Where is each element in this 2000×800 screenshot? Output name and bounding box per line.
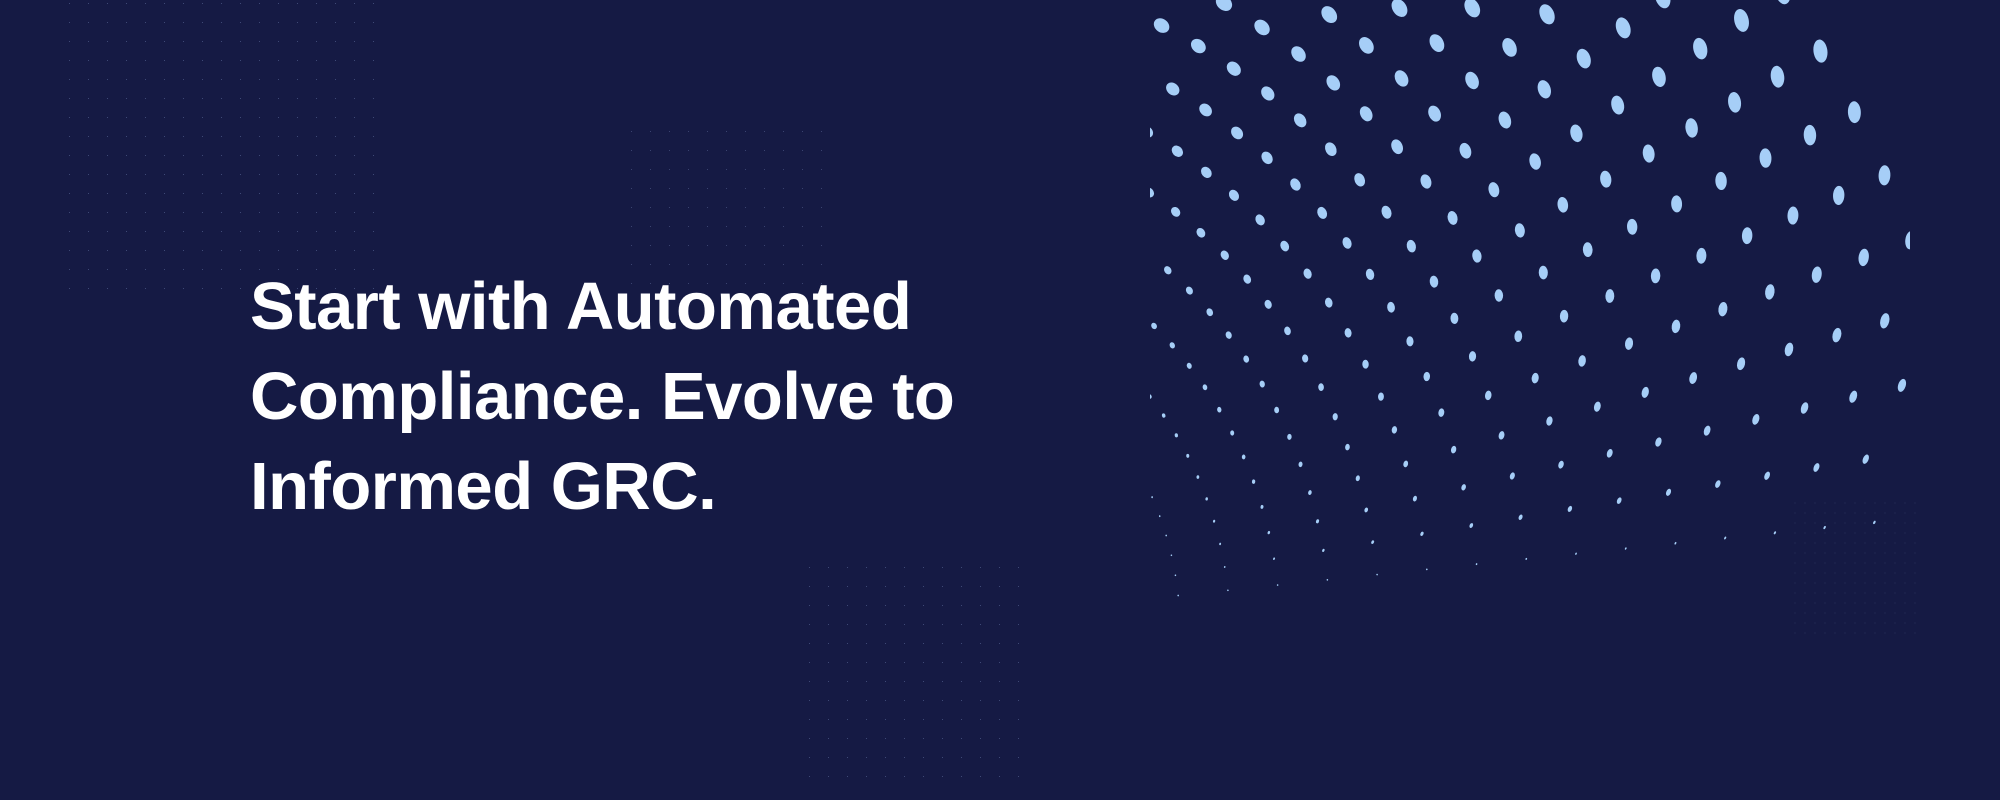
halftone-dot <box>1391 426 1397 434</box>
halftone-dot <box>1833 186 1845 206</box>
halftone-dot <box>1205 497 1208 501</box>
halftone-dot <box>1362 360 1369 369</box>
halftone-dot <box>1848 390 1859 404</box>
halftone-dot <box>1355 475 1360 482</box>
halftone-dot <box>1376 574 1378 576</box>
halftone-dot <box>1574 47 1593 70</box>
halftone-dot <box>1642 144 1656 164</box>
halftone-dot <box>1196 475 1199 479</box>
halftone-dot <box>1438 408 1445 417</box>
halftone-dot <box>1703 425 1712 437</box>
halftone-dot <box>1150 186 1156 200</box>
halftone-dot <box>1878 165 1891 186</box>
halftone-dot <box>1487 181 1501 198</box>
halftone-dot <box>1769 65 1785 89</box>
halftone-dot <box>1308 490 1313 496</box>
halftone-dot <box>1498 431 1505 441</box>
halftone-dot <box>1528 152 1543 171</box>
halftone-dot <box>1609 94 1625 115</box>
halftone-dot <box>1531 372 1539 383</box>
halftone-dot <box>1427 32 1448 55</box>
halftone-dot <box>1812 462 1821 473</box>
halftone-dot <box>1219 542 1222 545</box>
halftone-dot <box>1150 394 1152 400</box>
halftone-dot <box>1715 172 1727 191</box>
halftone-dot <box>1227 589 1229 591</box>
halftone-dot <box>1751 413 1761 426</box>
halftone-dot <box>1371 540 1375 545</box>
halftone-dot <box>1365 268 1376 281</box>
halftone-dot <box>1665 488 1672 497</box>
halftone-dot <box>1242 454 1246 459</box>
halftone-dot <box>1514 223 1526 239</box>
halftone-dot <box>1536 2 1557 27</box>
halftone-dot <box>1412 495 1417 502</box>
halftone-dot <box>1356 34 1377 56</box>
halftone-dot <box>1315 205 1328 220</box>
halftone-dot <box>1463 70 1482 92</box>
halftone-dot <box>1267 531 1270 535</box>
halftone-dot <box>1475 563 1477 565</box>
halftone-dot <box>1578 355 1587 367</box>
halftone-dot <box>1169 341 1176 349</box>
halftone-dot <box>1406 239 1418 253</box>
halftone-dot <box>1426 568 1428 570</box>
halftone-dot <box>1831 327 1843 343</box>
halftone-dot <box>1254 213 1267 227</box>
halftone-dot <box>1469 523 1474 529</box>
halftone-dot <box>1165 534 1167 536</box>
halftone-dot <box>1450 313 1458 325</box>
halftone-dot <box>1458 141 1474 160</box>
halftone-dot <box>1151 15 1172 36</box>
halftone-dot <box>1213 520 1216 523</box>
halftone-dot <box>1736 357 1747 371</box>
halftone-dot <box>1151 496 1153 498</box>
halftone-dot <box>1324 73 1343 93</box>
halftone-dot <box>1230 430 1234 435</box>
halftone-dot <box>1773 531 1776 535</box>
halftone-dot <box>1535 78 1553 100</box>
halftone-dot <box>1341 236 1353 250</box>
halftone-dot <box>1538 266 1548 280</box>
halftone-dot <box>1242 273 1252 285</box>
halftone-dot <box>1202 384 1208 391</box>
halftone-dot <box>1174 574 1176 576</box>
halftone-dot <box>1650 65 1667 88</box>
halftone-dot <box>1627 219 1638 235</box>
halftone-dot <box>1392 68 1411 89</box>
halftone-dot <box>1606 448 1614 458</box>
halftone-dot <box>1624 337 1634 350</box>
halftone-dot <box>1714 479 1722 488</box>
halftone-dot <box>1188 36 1209 56</box>
halftone-dot <box>1380 204 1393 220</box>
halftone-dot <box>1419 173 1433 190</box>
halftone-dot <box>1260 505 1264 510</box>
halftone-dot <box>1651 268 1661 283</box>
halftone-dot <box>1426 104 1443 124</box>
halftone-dot <box>1252 479 1256 484</box>
halftone-dot <box>1773 0 1793 6</box>
halftone-dot <box>1229 124 1246 141</box>
halftone-dot-group <box>1150 0 1910 597</box>
halftone-dot <box>1494 289 1503 302</box>
halftone-dot <box>1258 84 1277 103</box>
halftone-dot <box>1896 378 1907 393</box>
halftone-dot <box>1509 472 1516 480</box>
halftone-dot <box>1169 205 1182 219</box>
halftone-dot <box>1364 507 1369 513</box>
halftone-dot <box>1471 249 1482 263</box>
halftone-dot <box>1567 505 1573 512</box>
halftone-dot <box>1406 336 1414 346</box>
halftone-dot <box>1224 566 1226 568</box>
halftone-dot <box>1763 471 1771 481</box>
halftone-dot <box>1688 371 1698 384</box>
halftone-dot <box>1420 531 1425 536</box>
halftone-dot <box>1616 497 1623 505</box>
hero-headline: Start with Automated Compliance. Evolve … <box>250 262 1010 532</box>
halftone-dot <box>1879 312 1891 329</box>
halftone-dot <box>1812 39 1829 64</box>
halftone-dot <box>1332 413 1337 420</box>
halftone-dot <box>1177 594 1179 596</box>
halftone-dot <box>1560 310 1569 323</box>
halftone-dot <box>1357 104 1375 123</box>
halftone-dot <box>1484 390 1492 400</box>
halftone-dot <box>1224 59 1244 79</box>
halftone-dot <box>1251 16 1273 38</box>
halftone-dot <box>1298 461 1303 467</box>
halftone-dot <box>1525 558 1527 561</box>
halftone-dot <box>1823 526 1826 530</box>
dot-grid-top-left <box>60 0 380 290</box>
halftone-dot <box>1575 552 1578 555</box>
halftone-dot <box>1161 413 1165 418</box>
halftone-dot <box>1727 91 1743 113</box>
dot-grid-bottom-center <box>800 558 1022 794</box>
halftone-dot <box>1169 143 1185 159</box>
halftone-dot <box>1150 246 1151 257</box>
halftone-dot <box>1287 434 1292 440</box>
halftone-dot <box>1605 289 1614 303</box>
halftone-dot <box>1764 284 1775 301</box>
halftone-dot <box>1197 101 1215 119</box>
halftone-dot <box>1324 297 1333 308</box>
halftone-dot <box>1273 557 1276 560</box>
halftone-dot <box>1219 249 1230 261</box>
halftone-dot <box>1344 328 1352 338</box>
halftone-dot <box>1291 111 1309 130</box>
halftone-dot <box>1163 265 1174 276</box>
halftone-dot <box>1217 407 1222 413</box>
halftone-dot <box>1857 248 1869 267</box>
halftone-dot <box>1732 8 1751 34</box>
halftone-dot <box>1170 554 1172 556</box>
halftone-dot <box>1186 454 1189 458</box>
halftone-dot <box>1150 322 1158 330</box>
halftone-dot <box>1288 43 1309 64</box>
halftone-dot <box>1724 536 1727 540</box>
halftone-dot <box>1641 386 1650 398</box>
halftone-dot <box>1904 230 1910 250</box>
halftone-dot <box>1461 0 1483 20</box>
halftone-dot <box>1811 266 1823 284</box>
halftone-dot <box>1315 519 1319 524</box>
halftone-dot <box>1624 547 1627 550</box>
halftone-dot <box>1388 0 1410 20</box>
halftone-dot <box>1518 514 1524 521</box>
halftone-dot <box>1691 36 1709 60</box>
halftone-dot <box>1243 355 1250 363</box>
halftone-dot <box>1514 330 1522 342</box>
halftone-dot <box>1429 275 1439 288</box>
dot-grid-bottom-right <box>1790 498 1924 634</box>
halftone-dot <box>1186 362 1193 369</box>
halftone-dot <box>1213 0 1236 14</box>
halftone-dot <box>1593 401 1602 412</box>
halftone-dot <box>1263 299 1272 310</box>
halftone-dot <box>1545 416 1553 427</box>
halftone-dot <box>1787 206 1799 224</box>
halftone-dot <box>1225 331 1233 340</box>
halftone-dot <box>1557 460 1564 469</box>
halftone-dot <box>1783 342 1794 357</box>
halftone-dot <box>1557 196 1569 213</box>
halftone-dot <box>1199 165 1214 180</box>
halftone-dot <box>1469 351 1477 362</box>
halftone-dot <box>1671 319 1681 334</box>
halftone-dot <box>1378 392 1384 401</box>
halftone-dot <box>1599 170 1612 188</box>
halftone-dot <box>1450 445 1457 454</box>
halftone-dot <box>1569 123 1585 143</box>
halftone-dot <box>1652 0 1673 10</box>
halftone-dot <box>1174 433 1178 438</box>
halftone-dot <box>1497 110 1514 130</box>
halftone-dot <box>1150 124 1155 140</box>
halftone-dot <box>1326 579 1328 581</box>
halftone-dot <box>1684 117 1699 138</box>
halftone-dot <box>1718 301 1729 317</box>
halftone-dot <box>1318 3 1340 26</box>
halftone-dot <box>1759 148 1772 168</box>
halftone-dot <box>1259 149 1275 166</box>
halftone-dot <box>1423 372 1430 382</box>
halftone-dot <box>1387 301 1396 313</box>
halftone-dot <box>1277 584 1279 586</box>
halftone-dot <box>1461 484 1467 492</box>
halftone-dot <box>1318 383 1324 391</box>
halftone-dot <box>1403 460 1409 468</box>
halftone-dot <box>1159 515 1161 517</box>
halftone-dot <box>1288 177 1303 193</box>
halftone-dot <box>1873 520 1877 524</box>
halftone-dot <box>1674 542 1677 545</box>
halftone-dot <box>1323 140 1339 158</box>
halftone-dot <box>1389 138 1405 156</box>
halftone-dot-arc-graphic <box>1150 0 1910 630</box>
halftone-dot <box>1500 36 1520 59</box>
halftone-dot <box>1279 239 1291 252</box>
halftone-dot <box>1195 226 1207 239</box>
halftone-dot <box>1274 407 1279 414</box>
halftone-dot <box>1352 171 1367 188</box>
halftone-dot <box>1446 210 1459 226</box>
halftone-dot <box>1259 380 1265 388</box>
halftone-dot <box>1696 248 1707 264</box>
halftone-dot <box>1799 401 1809 414</box>
halftone-dot <box>1742 227 1753 244</box>
halftone-dot <box>1583 242 1593 257</box>
halftone-dot <box>1185 285 1195 295</box>
hero-banner: Start with Automated Compliance. Evolve … <box>0 0 2000 800</box>
halftone-dot <box>1847 101 1861 123</box>
halftone-dot <box>1163 80 1182 98</box>
halftone-dot <box>1283 326 1291 336</box>
halftone-dot <box>1205 307 1214 317</box>
halftone-dot <box>1302 267 1313 279</box>
halftone-dot <box>1302 354 1309 363</box>
halftone-dot <box>1803 125 1816 146</box>
halftone-dot <box>1613 15 1633 40</box>
halftone-dot <box>1671 195 1683 213</box>
halftone-dot <box>1322 548 1325 552</box>
halftone-dot <box>1345 444 1350 451</box>
halftone-dot <box>1654 437 1663 448</box>
halftone-dot <box>1861 454 1870 465</box>
halftone-dot <box>1227 188 1241 203</box>
